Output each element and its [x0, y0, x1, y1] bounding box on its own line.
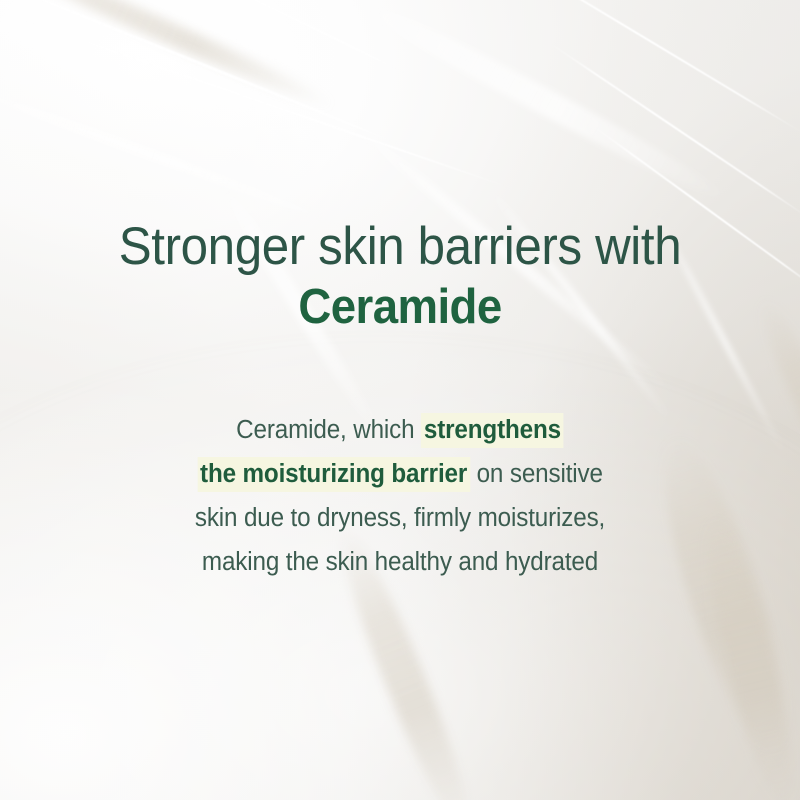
headline-line-2-ceramide: Ceramide — [28, 281, 772, 335]
body-line-1: Ceramide, which strengthens — [20, 408, 780, 452]
headline-block: Stronger skin barriers with Ceramide — [0, 218, 800, 335]
ceramide-promo-banner: Stronger skin barriers with Ceramide Cer… — [0, 0, 800, 800]
body-line-4: making the skin healthy and hydrated — [20, 540, 780, 584]
highlight-strengthens: strengthens — [421, 413, 564, 448]
headline-line-1: Stronger skin barriers with — [28, 218, 772, 275]
banner-content: Stronger skin barriers with Ceramide Cer… — [0, 0, 800, 800]
body-copy-block: Ceramide, which strengthens the moisturi… — [0, 408, 800, 584]
body-line-1-plain: Ceramide, which — [236, 416, 421, 444]
body-line-2-plain: on sensitive — [470, 460, 603, 488]
body-line-2: the moisturizing barrier on sensitive — [20, 452, 780, 496]
body-line-3: skin due to dryness, firmly moisturizes, — [20, 496, 780, 540]
highlight-moisturizing-barrier: the moisturizing barrier — [197, 457, 470, 492]
